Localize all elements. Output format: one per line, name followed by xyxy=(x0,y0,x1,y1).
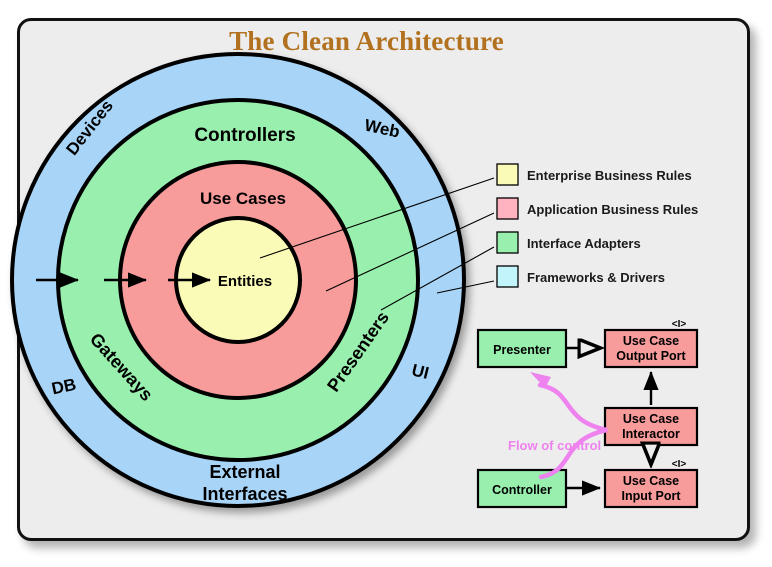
legend-item-1[interactable]: Application Business Rules xyxy=(497,198,698,219)
legend-label-frameworks-drivers: Frameworks & Drivers xyxy=(527,270,665,285)
box-use-case-output-port[interactable]: Use Case Output Port <I> xyxy=(605,319,697,367)
legend-item-3[interactable]: Frameworks & Drivers xyxy=(497,266,665,287)
flow-of-control-diagram: Presenter Use Case Output Port <I> Use C… xyxy=(478,319,697,507)
ring-label-external-line1: External xyxy=(209,462,280,482)
legend-item-2[interactable]: Interface Adapters xyxy=(497,232,641,253)
legend-item-0[interactable]: Enterprise Business Rules xyxy=(497,164,692,185)
interface-marker-output-port: <I> xyxy=(672,319,687,330)
box-presenter[interactable]: Presenter xyxy=(478,330,566,367)
ring-label-controllers: Controllers xyxy=(194,125,295,146)
legend-swatch-frameworks-drivers xyxy=(497,266,518,287)
screenshot-root: The Clean Architecture Con xyxy=(0,0,772,567)
box-controller[interactable]: Controller xyxy=(478,470,566,507)
box-label-controller: Controller xyxy=(492,483,552,497)
legend-label-enterprise-business-rules: Enterprise Business Rules xyxy=(527,168,692,183)
box-label-use-case-interactor-line2: Interactor xyxy=(622,427,680,441)
box-use-case-input-port[interactable]: Use Case Input Port <I> xyxy=(605,459,697,507)
legend-label-interface-adapters: Interface Adapters xyxy=(527,236,641,251)
clean-architecture-diagram: Controllers Use Cases Entities External … xyxy=(0,0,733,523)
ring-label-entities: Entities xyxy=(218,273,272,290)
legend-swatch-application-business-rules xyxy=(497,198,518,219)
legend: Enterprise Business Rules Application Bu… xyxy=(497,164,698,287)
box-label-use-case-input-port-line2: Input Port xyxy=(621,489,681,503)
ring-label-use-cases: Use Cases xyxy=(200,189,286,208)
legend-swatch-interface-adapters xyxy=(497,232,518,253)
box-label-use-case-interactor-line1: Use Case xyxy=(623,412,679,426)
legend-swatch-enterprise-business-rules xyxy=(497,164,518,185)
box-label-presenter: Presenter xyxy=(493,343,551,357)
box-label-use-case-output-port-line1: Use Case xyxy=(623,334,679,348)
box-label-use-case-input-port-line1: Use Case xyxy=(623,474,679,488)
legend-label-application-business-rules: Application Business Rules xyxy=(527,202,698,217)
flow-of-control-curve xyxy=(540,385,607,477)
box-use-case-interactor[interactable]: Use Case Interactor xyxy=(605,408,697,445)
box-label-use-case-output-port-line2: Output Port xyxy=(616,349,686,363)
ring-label-external-line2: Interfaces xyxy=(202,484,287,504)
interface-marker-input-port: <I> xyxy=(672,459,687,470)
flow-of-control-caption: Flow of control xyxy=(508,438,601,453)
